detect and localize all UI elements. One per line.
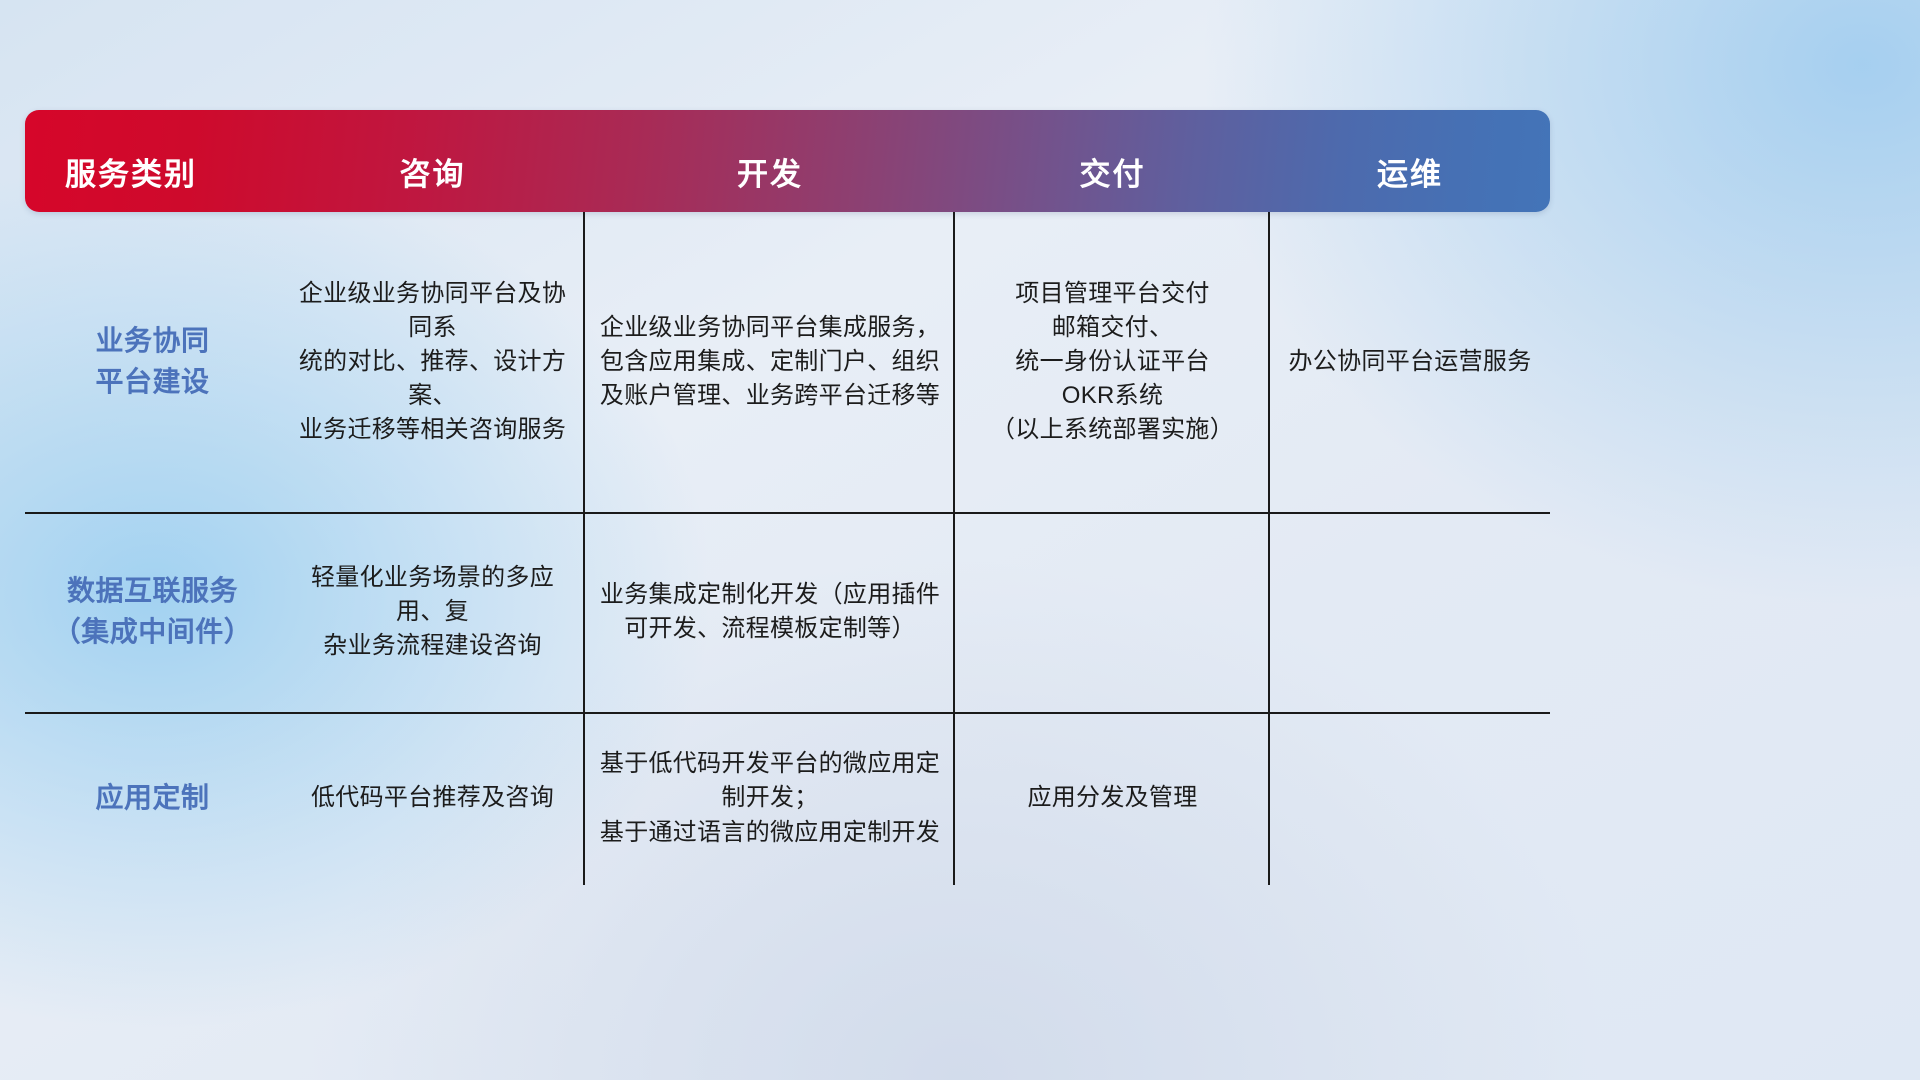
cell-delivery: 应用分发及管理 <box>955 712 1270 885</box>
cell-development: 企业级业务协同平台集成服务， 包含应用集成、定制门户、组织 及账户管理、业务跨平… <box>585 212 955 512</box>
column-header-development: 开发 <box>585 133 955 190</box>
category-label: 数据互联服务 （集成中间件） <box>53 571 253 652</box>
table-row: 数据互联服务 （集成中间件） 轻量化业务场景的多应用、复 杂业务流程建设咨询 业… <box>25 512 1550 712</box>
slide-canvas: 服务类别 咨询 开发 交付 运维 业务协同 平台建设 企业级业务协同平台及协同系… <box>0 0 1920 1080</box>
cell-operations <box>1270 712 1550 885</box>
cell-operations: 办公协同平台运营服务 <box>1270 212 1550 512</box>
cell-consulting: 企业级业务协同平台及协同系 统的对比、推荐、设计方案、 业务迁移等相关咨询服务 <box>280 212 585 512</box>
category-label: 业务协同 平台建设 <box>95 321 209 402</box>
cell-consulting: 低代码平台推荐及咨询 <box>280 712 585 885</box>
cell-development: 业务集成定制化开发（应用插件 可开发、流程模板定制等） <box>585 512 955 712</box>
cell-category: 应用定制 <box>25 712 280 885</box>
cell-development: 基于低代码开发平台的微应用定 制开发； 基于通过语言的微应用定制开发 <box>585 712 955 885</box>
cell-delivery <box>955 512 1270 712</box>
table-row: 业务协同 平台建设 企业级业务协同平台及协同系 统的对比、推荐、设计方案、 业务… <box>25 212 1550 512</box>
table-body: 业务协同 平台建设 企业级业务协同平台及协同系 统的对比、推荐、设计方案、 业务… <box>25 212 1550 885</box>
cell-delivery: 项目管理平台交付 邮箱交付、 统一身份认证平台 OKR系统 （以上系统部署实施） <box>955 212 1270 512</box>
cell-category: 业务协同 平台建设 <box>25 212 280 512</box>
column-header-operations: 运维 <box>1270 133 1550 190</box>
column-header-delivery: 交付 <box>955 133 1270 190</box>
category-label: 应用定制 <box>95 778 209 819</box>
cell-consulting: 轻量化业务场景的多应用、复 杂业务流程建设咨询 <box>280 512 585 712</box>
table-header-row: 服务类别 咨询 开发 交付 运维 <box>25 110 1550 212</box>
table-row: 应用定制 低代码平台推荐及咨询 基于低代码开发平台的微应用定 制开发； 基于通过… <box>25 712 1550 885</box>
service-matrix-table: 服务类别 咨询 开发 交付 运维 业务协同 平台建设 企业级业务协同平台及协同系… <box>25 110 1550 785</box>
column-header-consulting: 咨询 <box>280 133 585 190</box>
cell-category: 数据互联服务 （集成中间件） <box>25 512 280 712</box>
column-header-category: 服务类别 <box>25 133 280 190</box>
cell-operations <box>1270 512 1550 712</box>
